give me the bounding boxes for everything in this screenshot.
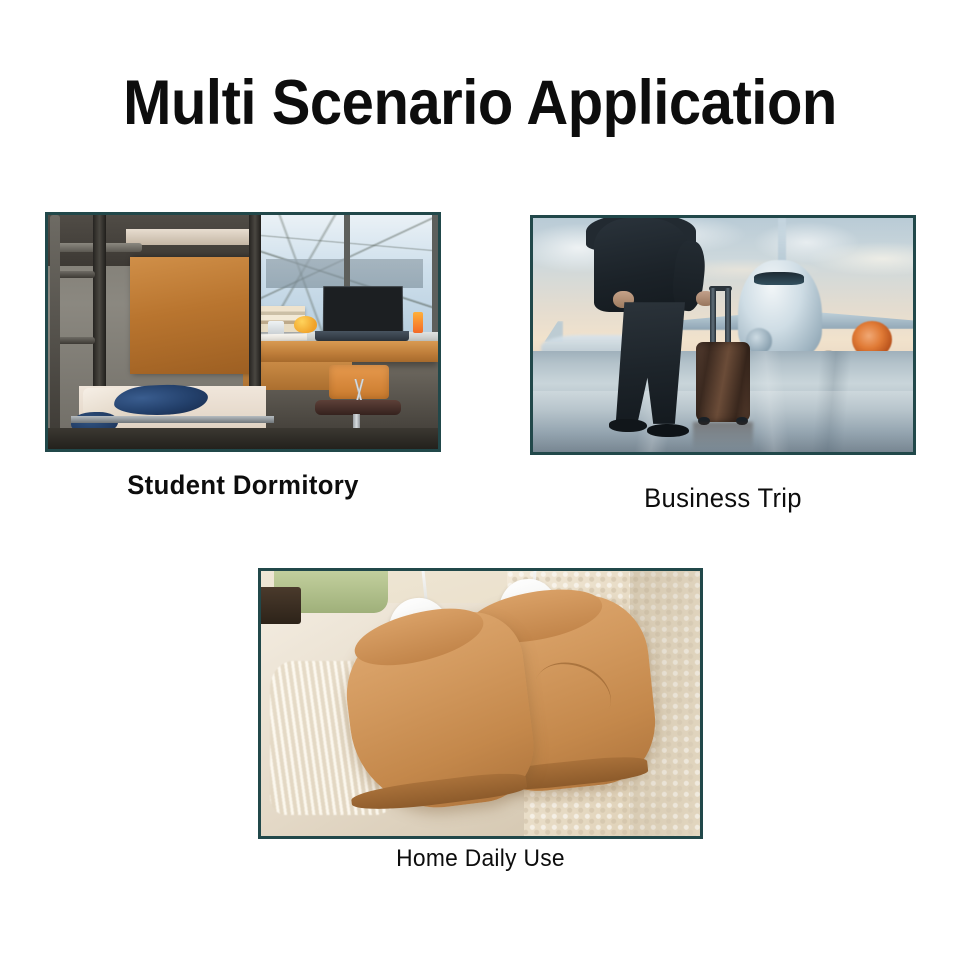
caption-home-daily-use: Home Daily Use xyxy=(269,845,692,873)
trip-plane-cockpit-windows xyxy=(754,272,803,285)
dorm-headboard xyxy=(130,257,255,374)
trip-suitcase-handle-rod-right xyxy=(725,288,731,344)
trip-suitcase-body xyxy=(696,342,749,422)
trip-plane-tail-fin xyxy=(778,218,786,265)
photo-business-trip xyxy=(533,218,913,452)
photo-home-daily-use xyxy=(261,571,700,836)
caption-student-dormitory: Student Dormitory xyxy=(45,470,440,501)
dorm-laptop-screen xyxy=(323,287,403,334)
dorm-snack-bowl xyxy=(294,316,317,334)
trip-suitcase-reflection xyxy=(693,422,754,450)
trip-plane-engine-left xyxy=(746,328,773,354)
photo-frame-dormitory xyxy=(45,212,441,452)
dorm-chair-seat xyxy=(315,400,401,415)
dorm-desk xyxy=(243,341,438,362)
caption-business-trip: Business Trip xyxy=(540,483,907,514)
dorm-bottle xyxy=(413,312,423,333)
dorm-floor xyxy=(48,428,438,449)
dorm-bed-frame xyxy=(71,416,274,423)
dorm-ladder-stile xyxy=(50,215,60,449)
trip-traveller-shoe-right xyxy=(647,424,689,437)
home-furniture-leg xyxy=(261,587,301,624)
page-title: Multi Scenario Application xyxy=(38,70,921,136)
trip-traveller-shoe-left xyxy=(609,419,647,432)
dorm-bunk-upper-mattress xyxy=(126,229,255,245)
photo-frame-home-daily-use xyxy=(258,568,703,839)
trip-suitcase-handle-rod-left xyxy=(710,288,716,344)
dorm-laptop-keyboard xyxy=(315,331,409,341)
photo-frame-business-trip xyxy=(530,215,916,455)
dorm-window-mullion-right xyxy=(432,215,438,332)
photo-student-dormitory xyxy=(48,215,438,449)
